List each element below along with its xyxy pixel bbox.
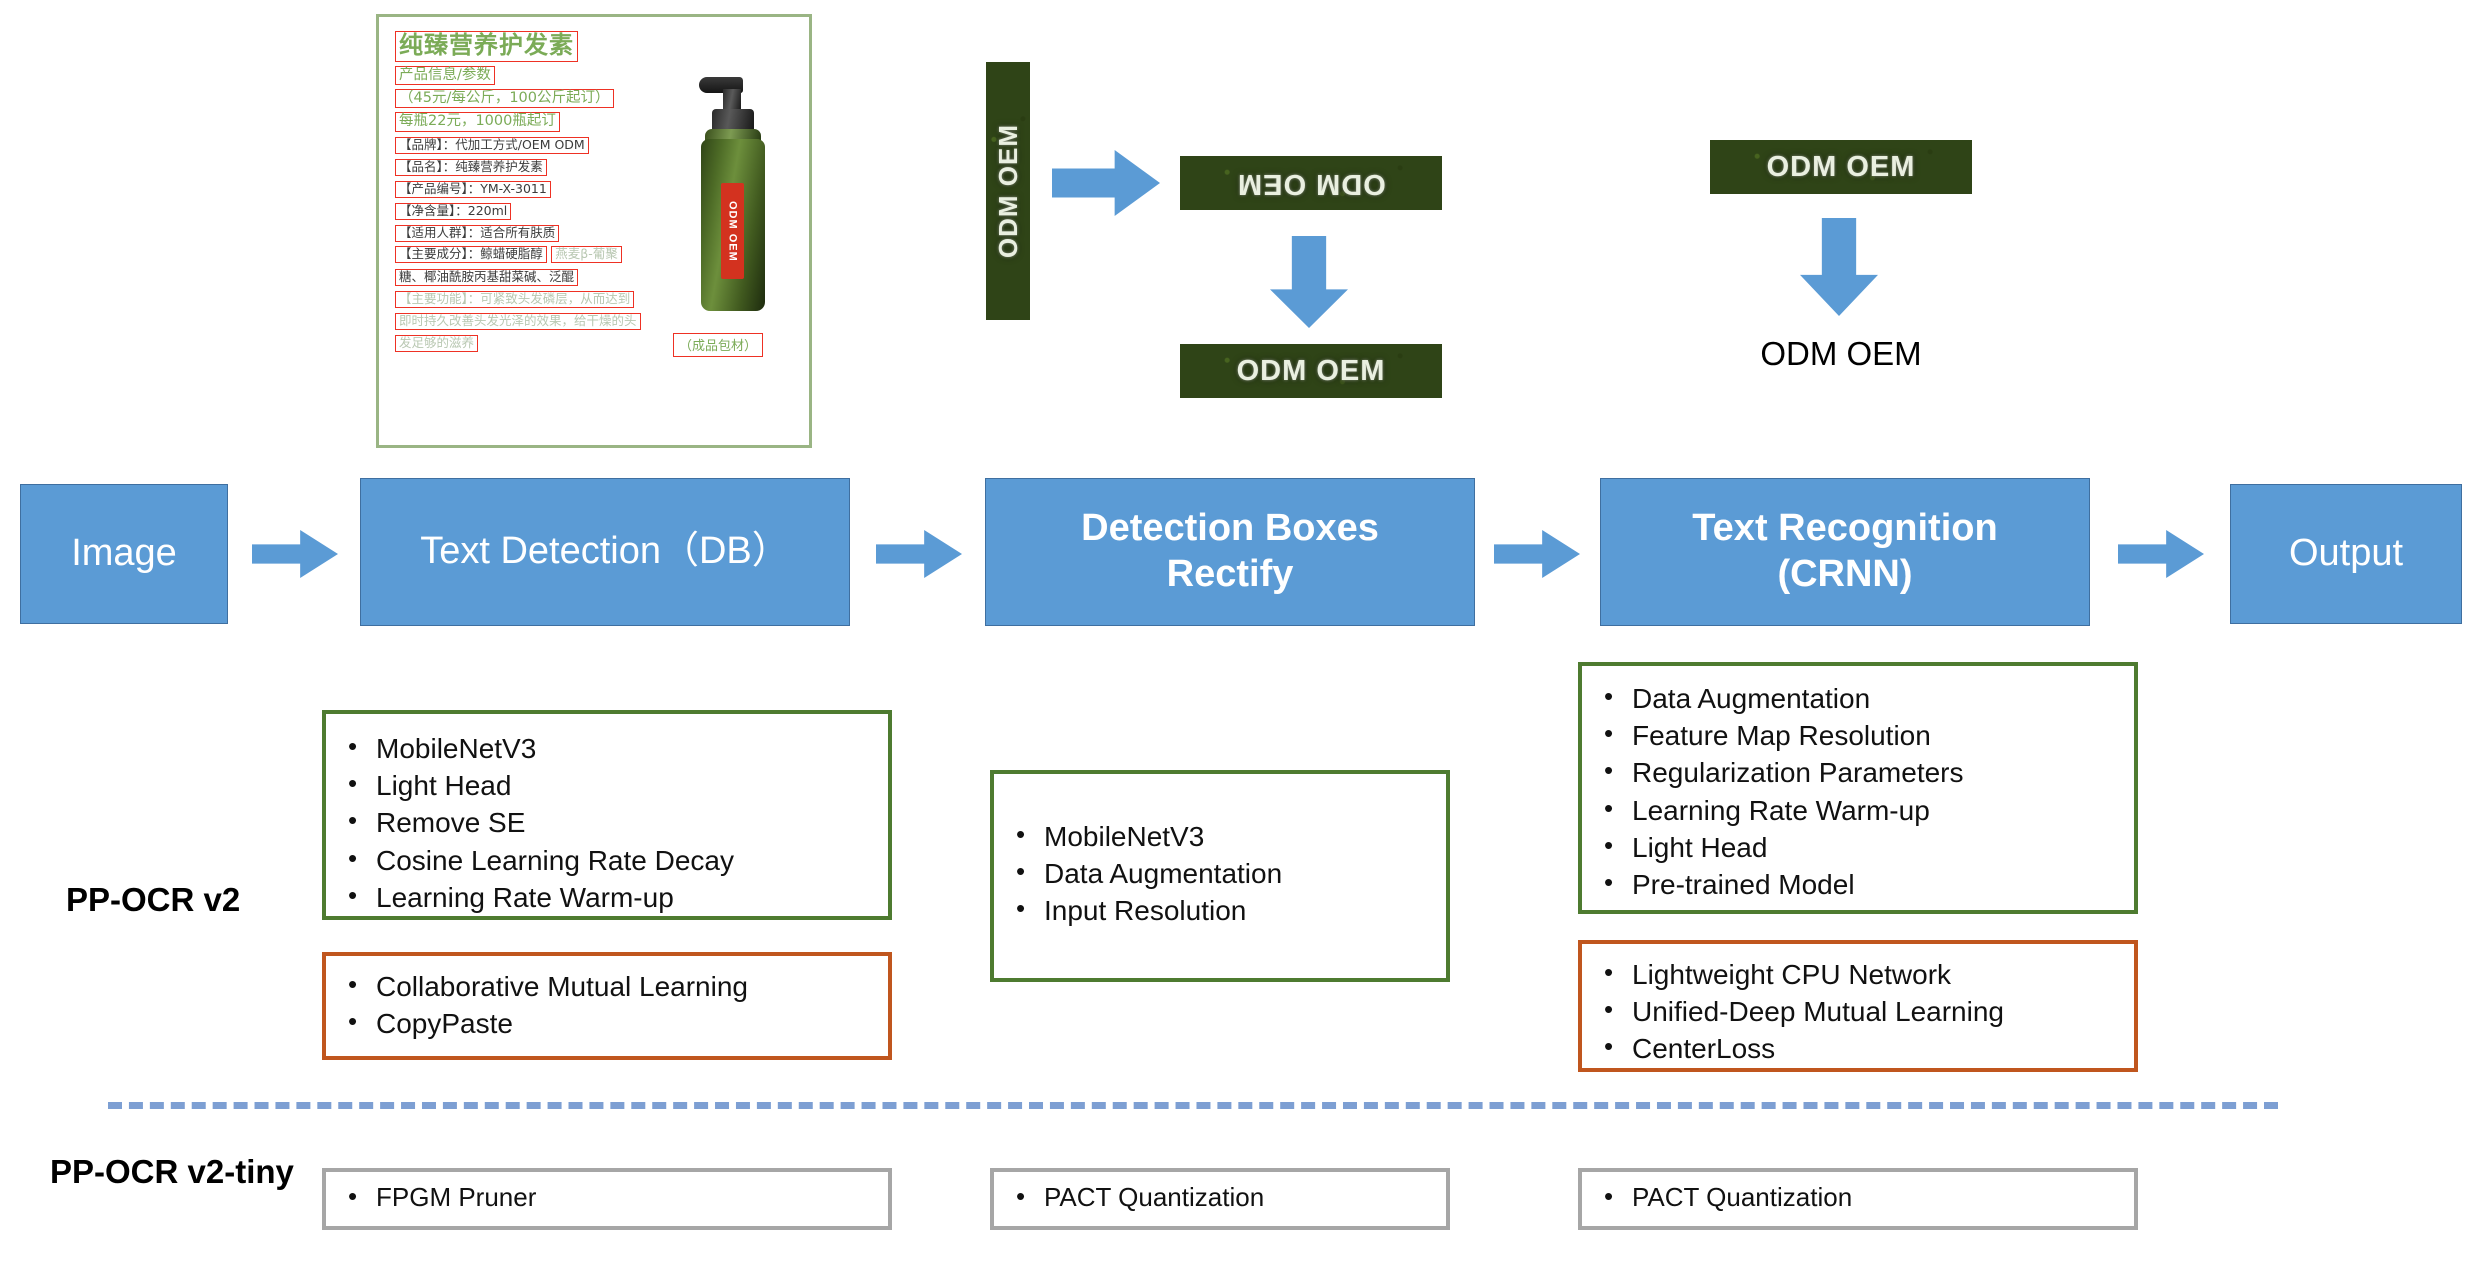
list-item: Unified-Deep Mutual Learning [1590, 993, 2134, 1030]
arrow-down-icon [1800, 218, 1878, 316]
pipeline-stage-recognition-line2: (CRNN) [1692, 552, 1997, 598]
detection-box: 【品牌】：代加工方式/OEM ODM [395, 137, 589, 154]
detection-box: 每瓶22元，1000瓶起订 [395, 112, 560, 131]
strategy-box-tiny-detection: FPGM Pruner [322, 1168, 892, 1230]
arrow-down-icon [1270, 236, 1348, 328]
detection-box: 【品名】：纯臻营养护发素 [395, 159, 547, 176]
arrow-right-icon [1494, 530, 1580, 578]
list-item: Cosine Learning Rate Decay [334, 842, 888, 879]
strategy-box-tiny-recognition: PACT Quantization [1578, 1168, 2138, 1230]
arrow-right-icon [2118, 530, 2204, 578]
list-item: Light Head [334, 767, 888, 804]
crop-recognition-input: ODM OEM [1710, 140, 1972, 194]
arrow-right-icon [876, 530, 962, 578]
detection-box: 【适用人群】：适合所有肤质 [395, 225, 559, 242]
list-item: Data Augmentation [1590, 680, 2134, 717]
strategy-list: Collaborative Mutual Learning CopyPaste [334, 968, 888, 1042]
row-label-ppocr-v2-text: PP-OCR v2 [66, 880, 316, 920]
arrow-right-icon [252, 530, 338, 578]
row-label-ppocr-v2-tiny-text: PP-OCR v2-tiny [50, 1152, 300, 1192]
row-label-ppocr-v2-tiny: PP-OCR v2-tiny [50, 1152, 300, 1192]
row-label-ppocr-v2: PP-OCR v2 [66, 880, 316, 920]
strategy-box-detection-green: MobileNetV3 Light Head Remove SE Cosine … [322, 710, 892, 920]
detection-box: 【净含量】：220ml [395, 203, 511, 220]
strategy-list: Data Augmentation Feature Map Resolution… [1590, 680, 2134, 903]
detected-text-lines: 纯臻营养护发素 产品信息/参数 （45元/每公斤，100公斤起订） 每瓶22元，… [395, 31, 663, 356]
detection-box: 糖、椰油酰胺丙基甜菜碱、泛醌 [395, 269, 578, 286]
bottle-label: ODM OEM [721, 183, 744, 279]
recognition-output-text: ODM OEM [1710, 330, 1972, 378]
crop-flipped-text: ODM OEM [1237, 167, 1386, 200]
detection-box: 产品信息/参数 [395, 66, 495, 85]
pipeline-stage-detection-boxes-rectify[interactable]: Detection Boxes Rectify [985, 478, 1475, 626]
list-item: Learning Rate Warm-up [1590, 792, 2134, 829]
list-item: CenterLoss [1590, 1030, 2134, 1067]
list-item: Feature Map Resolution [1590, 717, 2134, 754]
detection-box: （45元/每公斤，100公斤起订） [395, 89, 614, 108]
list-item: MobileNetV3 [334, 730, 888, 767]
strategy-box-detection-orange: Collaborative Mutual Learning CopyPaste [322, 952, 892, 1060]
strategy-box-tiny-rectify: PACT Quantization [990, 1168, 1450, 1230]
detection-box: 【主要功能】：可紧致头发磷层，从而达到 [395, 291, 634, 308]
detection-box: 即时持久改善头发光泽的效果，给干燥的头 [395, 313, 641, 330]
strategy-box-recognition-orange: Lightweight CPU Network Unified-Deep Mut… [1578, 940, 2138, 1072]
list-item: Remove SE [334, 804, 888, 841]
pipeline-stage-recognition-line1: Text Recognition [1692, 506, 1997, 552]
strategy-list: MobileNetV3 Light Head Remove SE Cosine … [334, 730, 888, 916]
detection-box: （成品包材） [673, 333, 763, 357]
list-item: Data Augmentation [1002, 855, 1446, 892]
section-divider [108, 1102, 2278, 1109]
product-bottle-illustration: ODM OEM [681, 63, 785, 323]
crop-vertical-text: ODM OEM [993, 124, 1024, 258]
strategy-box-recognition-green: Data Augmentation Feature Map Resolution… [1578, 662, 2138, 914]
bottle-label-text: ODM OEM [727, 201, 739, 262]
list-item: Learning Rate Warm-up [334, 879, 888, 916]
strategy-list: PACT Quantization [1590, 1180, 2134, 1215]
list-item: FPGM Pruner [334, 1180, 888, 1215]
detection-box: 【主要成分】：鲸蜡硬脂醇 [395, 246, 547, 263]
list-item: PACT Quantization [1590, 1180, 2134, 1215]
list-item: MobileNetV3 [1002, 818, 1446, 855]
strategy-box-rectify-green: MobileNetV3 Data Augmentation Input Reso… [990, 770, 1450, 982]
pipeline-stage-image[interactable]: Image [20, 484, 228, 624]
pipeline-stage-rectify-line1: Detection Boxes [1081, 506, 1379, 552]
arrow-right-icon [1052, 150, 1160, 216]
crop-vertical-odm-oem: ODM OEM [986, 62, 1030, 320]
crop-upright-odm-oem: ODM OEM [1180, 344, 1442, 398]
list-item: Input Resolution [1002, 892, 1446, 929]
crop-flipped-odm-oem: ODM OEM [1180, 156, 1442, 210]
list-item: Lightweight CPU Network [1590, 956, 2134, 993]
detection-box: 纯臻营养护发素 [395, 31, 578, 62]
list-item: Collaborative Mutual Learning [334, 968, 888, 1005]
detection-box: 燕麦β-葡聚 [551, 246, 622, 263]
detection-box-row: 【主要成分】：鲸蜡硬脂醇 燕麦β-葡聚 [395, 246, 663, 264]
pipeline-stage-rectify-line2: Rectify [1081, 552, 1379, 598]
strategy-list: FPGM Pruner [334, 1180, 888, 1215]
pipeline-stage-output[interactable]: Output [2230, 484, 2462, 624]
list-item: PACT Quantization [1002, 1180, 1446, 1215]
detection-box: 发足够的滋养 [395, 335, 478, 352]
list-item: Regularization Parameters [1590, 754, 2134, 791]
pipeline-stage-text-recognition[interactable]: Text Recognition (CRNN) [1600, 478, 2090, 626]
list-item: CopyPaste [334, 1005, 888, 1042]
pipeline-stage-text-detection[interactable]: Text Detection（DB） [360, 478, 850, 626]
strategy-list: MobileNetV3 Data Augmentation Input Reso… [1002, 818, 1446, 930]
strategy-list: Lightweight CPU Network Unified-Deep Mut… [1590, 956, 2134, 1068]
list-item: Light Head [1590, 829, 2134, 866]
strategy-list: PACT Quantization [1002, 1180, 1446, 1215]
detection-box: 【产品编号】：YM-X-3011 [395, 181, 551, 198]
ocr-sample-image-panel: 纯臻营养护发素 产品信息/参数 （45元/每公斤，100公斤起订） 每瓶22元，… [376, 14, 812, 448]
list-item: Pre-trained Model [1590, 866, 2134, 903]
